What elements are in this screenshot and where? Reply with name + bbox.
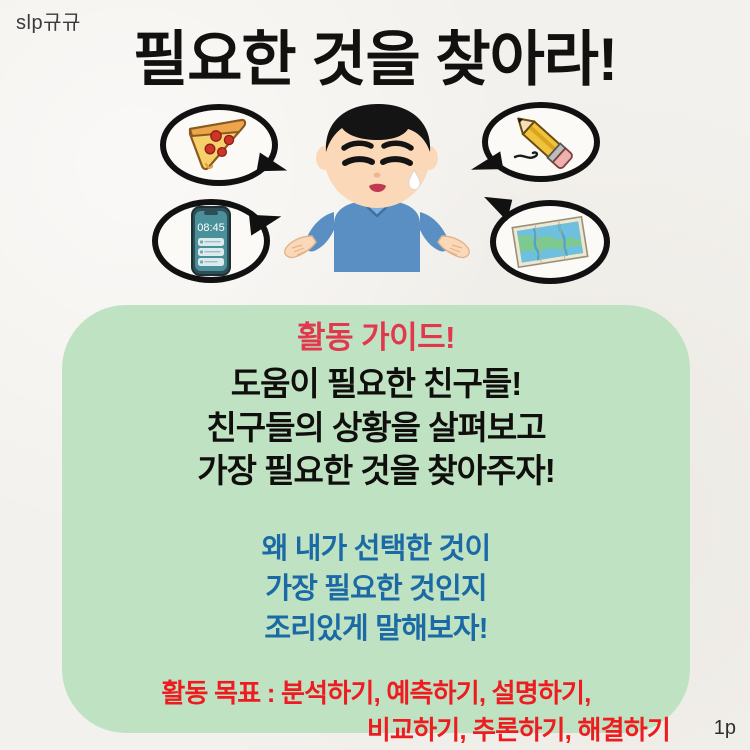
watermark-label: slp규규 — [16, 6, 81, 35]
activity-goal: 활동 목표 : 분석하기, 예측하기, 설명하기, 비교하기, 추론하기, 해결… — [62, 675, 690, 749]
prompt-line-3: 조리있게 말해보자! — [62, 609, 690, 649]
page-title: 필요한 것을 찾아라! — [0, 28, 750, 91]
illustration-area: 08:45 — [0, 96, 750, 301]
guide-description: 도움이 필요한 친구들! 친구들의 상황을 살펴보고 가장 필요한 것을 찾아주… — [62, 362, 690, 493]
phone-clock-label: 08:45 — [197, 222, 225, 234]
speech-bubble-map — [490, 200, 610, 284]
speech-bubble-pencil — [482, 102, 600, 182]
left-hand — [285, 236, 316, 257]
guide-line-1: 도움이 필요한 친구들! — [62, 362, 690, 406]
prompt-line-1: 왜 내가 선택한 것이 — [62, 529, 690, 569]
goal-line-1: 활동 목표 : 분석하기, 예측하기, 설명하기, — [76, 675, 676, 712]
speech-bubble-pizza — [160, 104, 278, 186]
pencil-icon — [501, 113, 581, 171]
prompt-line-2: 가장 필요한 것인지 — [62, 569, 690, 609]
goal-line-2: 비교하기, 추론하기, 해결하기 — [76, 712, 676, 749]
pizza-slice-icon — [182, 116, 256, 174]
confused-boy-illustration — [272, 96, 482, 296]
guide-line-2: 친구들의 상황을 살펴보고 — [62, 406, 690, 450]
smartphone-icon: 08:45 — [188, 205, 234, 277]
guide-line-3: 가장 필요한 것을 찾아주자! — [62, 449, 690, 493]
speech-bubble-phone: 08:45 — [152, 199, 270, 283]
map-icon — [510, 214, 590, 270]
page-indicator: 1p — [714, 717, 736, 740]
guide-heading: 활동 가이드! — [62, 319, 690, 356]
guide-prompt: 왜 내가 선택한 것이 가장 필요한 것인지 조리있게 말해보자! — [62, 529, 690, 649]
right-hand — [438, 236, 469, 257]
bubble-tail-icon — [480, 193, 512, 221]
poster-canvas: slp규규 필요한 것을 찾아라! — [0, 0, 750, 750]
activity-guide-panel: 활동 가이드! 도움이 필요한 친구들! 친구들의 상황을 살펴보고 가장 필요… — [62, 305, 690, 733]
